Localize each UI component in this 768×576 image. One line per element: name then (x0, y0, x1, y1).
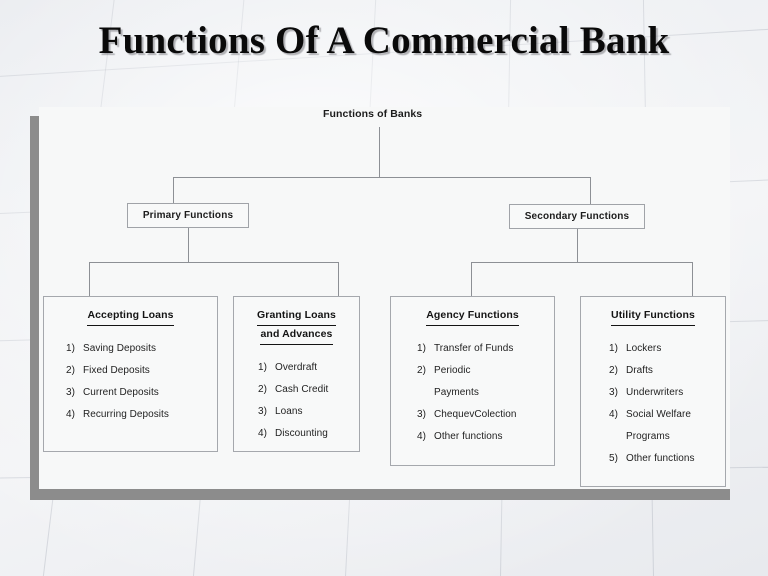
org-chart: Functions of Banks Primary Functions Sec… (39, 107, 730, 489)
node-primary-functions[interactable]: Primary Functions (127, 203, 249, 228)
node-root-label: Functions of Banks (323, 108, 422, 120)
connector-to-secondary (590, 177, 591, 204)
list-item: 2)Drafts (609, 360, 725, 382)
diagram-panel: Functions of Banks Primary Functions Sec… (39, 107, 730, 489)
connector-to-granting-loans (338, 262, 339, 296)
list-item: 1)Lockers (609, 338, 725, 360)
list-item: 3)Loans (258, 401, 359, 423)
connector-root-stem (379, 127, 380, 177)
list-item: 3)Current Deposits (66, 382, 217, 404)
connector-primary-bar (89, 262, 338, 263)
node-accepting-loans-list: 1)Saving Deposits 2)Fixed Deposits 3)Cur… (66, 338, 217, 426)
node-utility-functions-heading: Utility Functions (581, 307, 725, 326)
page-title: Functions Of A Commercial Bank (0, 18, 768, 64)
node-agency-functions-list: 1)Transfer of Funds 2)Periodic Payments … (417, 338, 554, 448)
node-secondary-functions[interactable]: Secondary Functions (509, 204, 645, 229)
list-item: 5)Other functions (609, 448, 725, 470)
node-utility-functions[interactable]: Utility Functions 1)Lockers 2)Drafts 3)U… (580, 296, 726, 487)
node-agency-functions-heading: Agency Functions (391, 307, 554, 326)
node-accepting-loans-heading: Accepting Loans (44, 307, 217, 326)
node-granting-loans-and-advances[interactable]: Granting Loans and Advances 1)Overdraft … (233, 296, 360, 452)
list-item: Payments (417, 382, 554, 404)
node-agency-functions[interactable]: Agency Functions 1)Transfer of Funds 2)P… (390, 296, 555, 466)
list-item: 3)ChequevColection (417, 404, 554, 426)
list-item: 1)Overdraft (258, 357, 359, 379)
connector-secondary-stem (577, 229, 578, 262)
slide-canvas: Functions Of A Commercial Bank Functions… (0, 0, 768, 576)
list-item: 2)Fixed Deposits (66, 360, 217, 382)
connector-secondary-bar (471, 262, 692, 263)
connector-to-agency-functions (471, 262, 472, 296)
node-secondary-functions-label: Secondary Functions (525, 211, 630, 222)
list-item: 1)Transfer of Funds (417, 338, 554, 360)
node-accepting-loans[interactable]: Accepting Loans 1)Saving Deposits 2)Fixe… (43, 296, 218, 452)
list-item: 4)Other functions (417, 426, 554, 448)
list-item: 3)Underwriters (609, 382, 725, 404)
list-item: 2)Cash Credit (258, 379, 359, 401)
list-item: 2)Periodic (417, 360, 554, 382)
list-item: Programs (609, 426, 725, 448)
node-utility-functions-list: 1)Lockers 2)Drafts 3)Underwriters 4)Soci… (609, 338, 725, 470)
connector-primary-stem (188, 228, 189, 262)
connector-to-primary (173, 177, 174, 203)
list-item: 1)Saving Deposits (66, 338, 217, 360)
connector-level1-bar (173, 177, 590, 178)
connector-to-accepting-loans (89, 262, 90, 296)
node-primary-functions-label: Primary Functions (143, 210, 233, 221)
node-granting-loans-list: 1)Overdraft 2)Cash Credit 3)Loans 4)Disc… (258, 357, 359, 445)
connector-to-utility-functions (692, 262, 693, 296)
list-item: 4)Discounting (258, 423, 359, 445)
node-granting-loans-heading: Granting Loans and Advances (234, 307, 359, 345)
list-item: 4)Social Welfare (609, 404, 725, 426)
list-item: 4)Recurring Deposits (66, 404, 217, 426)
